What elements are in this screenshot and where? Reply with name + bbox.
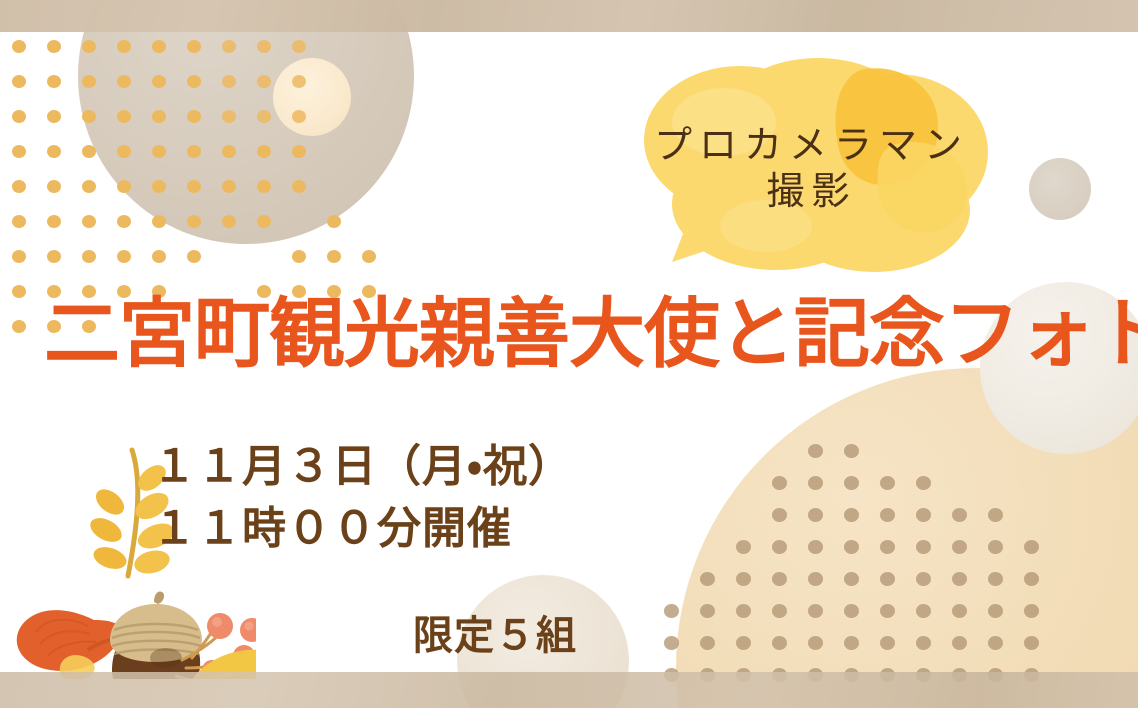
dot <box>1024 572 1039 586</box>
dot <box>664 636 679 650</box>
dot <box>988 604 1003 618</box>
dot <box>880 476 895 490</box>
dot <box>988 636 1003 650</box>
dot <box>880 604 895 618</box>
dot <box>844 636 859 650</box>
dot <box>952 572 967 586</box>
bottom-decorative-band <box>0 672 1138 708</box>
dot <box>736 540 751 554</box>
dot <box>808 444 823 458</box>
dot <box>808 636 823 650</box>
dot <box>772 604 787 618</box>
dot <box>916 508 931 522</box>
dot <box>952 508 967 522</box>
dot <box>1024 636 1039 650</box>
dot <box>700 636 715 650</box>
dot <box>736 636 751 650</box>
poster-canvas: プロカメラマン 撮影 二宮町観光親善大使と記念フォト １１月３日（月・祝） １１… <box>0 0 1138 708</box>
dot <box>952 540 967 554</box>
dot <box>916 540 931 554</box>
dot <box>808 508 823 522</box>
dot <box>880 508 895 522</box>
event-date: １１月３日（月・祝） <box>152 436 573 498</box>
dot <box>844 476 859 490</box>
event-details: １１月３日（月・祝） １１時００分開催 <box>152 436 573 559</box>
bubble-line-2: 撮影 <box>759 168 856 216</box>
dot <box>772 572 787 586</box>
dot <box>700 572 715 586</box>
dot <box>916 636 931 650</box>
bubble-line-1: プロカメラマン <box>647 124 969 168</box>
top-decorative-band <box>0 0 1138 32</box>
dot <box>916 572 931 586</box>
dot <box>988 508 1003 522</box>
dot <box>844 444 859 458</box>
dot <box>880 572 895 586</box>
dot <box>988 540 1003 554</box>
dot <box>808 572 823 586</box>
dot <box>664 604 679 618</box>
dot <box>844 572 859 586</box>
speech-bubble: プロカメラマン 撮影 <box>628 48 988 292</box>
dot <box>772 636 787 650</box>
dot <box>808 604 823 618</box>
event-time: １１時００分開催 <box>152 498 573 560</box>
dot <box>844 508 859 522</box>
dot <box>736 604 751 618</box>
dot <box>916 604 931 618</box>
dot <box>1024 604 1039 618</box>
dot <box>808 476 823 490</box>
dot <box>952 636 967 650</box>
dot <box>916 476 931 490</box>
dot <box>736 572 751 586</box>
poster-title: 二宮町観光親善大使と記念フォト <box>44 296 1138 372</box>
event-capacity: 限定５組 <box>413 603 577 661</box>
dot <box>844 540 859 554</box>
dot <box>880 540 895 554</box>
dot <box>1024 540 1039 554</box>
dot <box>772 476 787 490</box>
dot <box>952 604 967 618</box>
dot <box>772 540 787 554</box>
dot <box>700 604 715 618</box>
dot <box>988 572 1003 586</box>
dot <box>844 604 859 618</box>
dot <box>880 636 895 650</box>
dot <box>772 508 787 522</box>
dot <box>808 540 823 554</box>
